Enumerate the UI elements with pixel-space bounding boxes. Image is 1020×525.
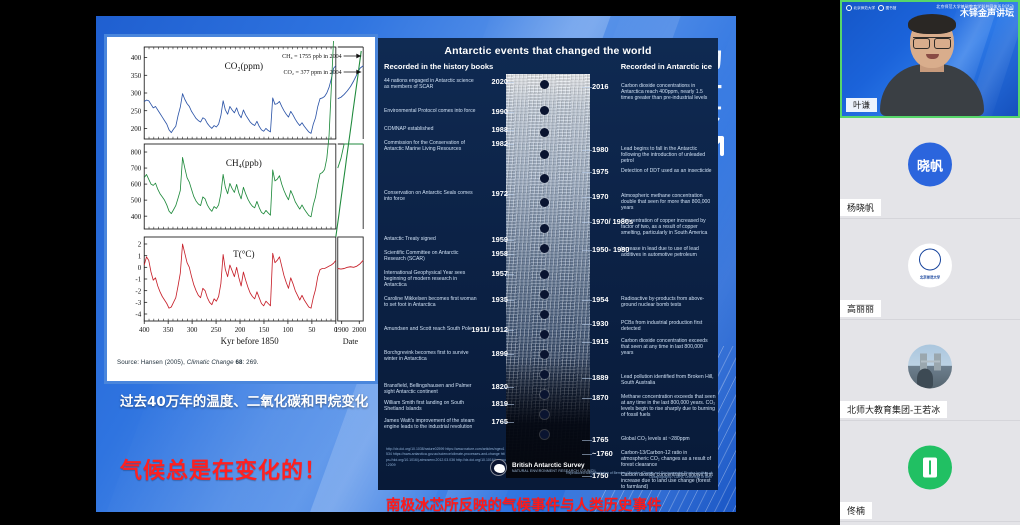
svg-text:300: 300 — [187, 326, 198, 334]
poster-leader-line — [582, 378, 592, 379]
poster-event-year: 1911/ 1912 — [471, 326, 508, 335]
poster-event-right: 1915Carbon dioxide concentration exceeds… — [592, 338, 716, 356]
poster-event-year: 1870 — [592, 394, 608, 403]
poster-event-text: Increase in lead due to use of lead addi… — [621, 246, 716, 258]
library-logo-chip: 图书馆 — [878, 5, 896, 11]
active-speaker-video-tile[interactable]: 北京师范大学 图书馆 北京师范大学基础教育学科共同体系列活动 木铎金声讲坛 — [840, 0, 1020, 118]
ice-core-marker-dot — [540, 128, 549, 137]
participants-rail: 北京师范大学 图书馆 北京师范大学基础教育学科共同体系列活动 木铎金声讲坛 — [840, 0, 1020, 525]
poster-event-left: 1957International Geophysical Year sees … — [384, 270, 504, 288]
poster-event-text: Detection of DDT used as an insecticide — [621, 168, 716, 174]
poster-event-right: 1980Lead begins to fall in the Antarctic… — [592, 146, 716, 164]
poster-event-left: 1935Caroline Mikkelsen becomes first wom… — [384, 296, 504, 308]
poster-event-year: 1980 — [592, 146, 608, 155]
svg-text:200: 200 — [131, 125, 142, 133]
poster-event-year: 1889 — [592, 374, 608, 383]
avatar — [908, 445, 952, 489]
poster-leader-line — [504, 354, 514, 355]
poster-leader-line — [504, 330, 514, 331]
poster-event-text: Scientific Committee on Antarctic Resear… — [384, 250, 480, 262]
poster-leader-line — [504, 274, 514, 275]
svg-text:-1: -1 — [135, 276, 141, 284]
antarctica-icon — [490, 459, 507, 476]
book-icon — [923, 457, 937, 477]
ice-core-marker-dot — [540, 290, 549, 299]
ice-core-marker-dot — [540, 174, 549, 183]
participant-name-label: 北师大教育集团-王若冰 — [840, 401, 947, 418]
svg-text:300: 300 — [131, 90, 142, 98]
poster-event-text: Lead begins to fall in the Antarctic fol… — [621, 146, 716, 164]
ice-core-marker-dot — [540, 224, 549, 233]
poster-event-left: 1899Borchgrevink becomes first to surviv… — [384, 350, 504, 362]
poster-right-column-header: Recorded in Antarctic ice — [621, 62, 712, 71]
avatar — [908, 344, 952, 388]
poster-leader-line — [582, 150, 592, 151]
poster-event-left: 1972Conservation on Antarctic Seals come… — [384, 190, 504, 202]
poster-event-left: 1819William Smith first landing on South… — [384, 400, 504, 412]
participant-name-label: 高丽丽 — [840, 300, 881, 317]
speaker-glasses — [913, 37, 951, 46]
poster-event-left: 1990Environmental Protocol comes into fo… — [384, 108, 504, 114]
bridge-span-icon — [921, 360, 940, 362]
poster-leader-line — [504, 194, 514, 195]
caption-chart: 过去40万年的温度、二氧化碳和甲烷变化 — [120, 390, 368, 410]
poster-event-right: 1970Atmospheric methane concentration do… — [592, 193, 716, 211]
seal-caption: 北京师范大学 — [908, 275, 952, 279]
poster-event-text: COMNAP established — [384, 126, 480, 132]
poster-leader-line — [582, 454, 592, 455]
svg-text:Date: Date — [343, 337, 359, 346]
shared-screen-area: 动一下 200250300350400CO₂(ppm)4005006007008… — [0, 0, 840, 525]
poster-leader-line — [582, 87, 592, 88]
bas-logo-name: British Antarctic Survey — [512, 462, 597, 469]
participant-name-label: 佟楠 — [840, 502, 872, 519]
speaker-figure — [876, 30, 988, 116]
person-silhouette-icon — [917, 368, 933, 388]
video-org-logos: 北京师范大学 图书馆 — [846, 5, 896, 11]
poster-event-text: Bransfield, Bellingshausen and Palmer si… — [384, 383, 480, 395]
svg-text:CH₄ = 1755 ppb in 2004: CH₄ = 1755 ppb in 2004 — [282, 54, 342, 60]
poster-event-text: Commission for the Conservation of Antar… — [384, 140, 480, 152]
poster-event-text: Methane concentration exceeds that seen … — [621, 394, 716, 418]
poster-event-text: Carbon dioxide concentration exceeds tha… — [621, 338, 716, 356]
ice-core-marker-dot — [540, 150, 549, 159]
svg-text:-2: -2 — [135, 287, 141, 295]
poster-event-text: James Watt's improvement of the steam en… — [384, 418, 480, 430]
svg-text:2: 2 — [138, 241, 142, 249]
poster-event-left: 1911/ 1912Amundsen and Scott reach South… — [384, 326, 504, 332]
ice-core-marker-dot — [540, 410, 549, 419]
poster-leader-line — [582, 197, 592, 198]
poster-event-text: Concentration of copper increased by fac… — [621, 218, 716, 236]
svg-text:350: 350 — [131, 72, 142, 80]
ice-core-marker-dot — [540, 430, 549, 439]
poster-leader-line — [504, 144, 514, 145]
poster-leader-line — [504, 82, 514, 83]
poster-event-text: Antarctic Treaty signed — [384, 236, 480, 242]
poster-event-left: 1959Antarctic Treaty signed — [384, 236, 504, 242]
poster-event-text: PCBs from industrial production first de… — [621, 320, 716, 332]
poster-leader-line — [504, 254, 514, 255]
bnu-logo-chip: 北京师范大学 — [846, 5, 875, 11]
poster-leader-line — [504, 130, 514, 131]
library-logo-text: 图书馆 — [886, 6, 897, 11]
poster-event-left: 1765James Watt's improvement of the stea… — [384, 418, 504, 430]
caption-icecore: 南极冰芯所反映的气候事件与人类历史事件 — [386, 494, 662, 512]
ice-core-marker-dot — [540, 244, 549, 253]
svg-text:0: 0 — [138, 264, 142, 272]
poster-event-text: Atmospheric methane concentration double… — [621, 193, 716, 211]
caption-climate: 气候总是在变化的！ — [120, 453, 327, 485]
antarctic-poster: Antarctic events that changed the world … — [378, 38, 718, 490]
poster-event-year: 2016 — [592, 83, 608, 92]
poster-leader-line — [582, 342, 592, 343]
svg-text:1: 1 — [138, 252, 142, 260]
poster-event-right: 1870Methane concentration exceeds that s… — [592, 394, 716, 418]
svg-text:350: 350 — [163, 326, 174, 334]
poster-event-text: Caroline Mikkelsen becomes first woman t… — [384, 296, 480, 308]
svg-text:CO₂(ppm): CO₂(ppm) — [225, 61, 263, 72]
poster-event-year: 1930 — [592, 320, 608, 329]
ice-core-marker-dot — [540, 390, 549, 399]
poster-event-right: 1970/ 1980sConcentration of copper incre… — [592, 218, 716, 236]
svg-text:400: 400 — [131, 213, 142, 221]
participant-name-label: 杨晓帆 — [840, 199, 881, 216]
svg-text:CH₄(ppb): CH₄(ppb) — [226, 158, 262, 169]
poster-event-text: International Geophysical Year sees begi… — [384, 270, 480, 288]
svg-text:50: 50 — [308, 326, 315, 334]
svg-text:-3: -3 — [135, 299, 141, 307]
participant-tile[interactable]: 北京师范大学高丽丽 — [840, 219, 1020, 320]
university-seal-icon — [919, 248, 941, 270]
chart-source-note: Source: Hansen (2005), Climatic Change 6… — [111, 357, 371, 366]
poster-event-text: Radioactive by-products from above-groun… — [621, 296, 716, 308]
bnu-logo-text: 北京师范大学 — [854, 6, 876, 11]
svg-text:CO₂ = 377 ppm in 2004: CO₂ = 377 ppm in 2004 — [283, 70, 341, 76]
ice-core-marker-dot — [540, 80, 549, 89]
poster-event-left: 1958Scientific Committee on Antarctic Re… — [384, 250, 504, 262]
svg-text:-4: -4 — [135, 311, 141, 319]
svg-text:800: 800 — [131, 149, 142, 157]
poster-leader-line — [582, 300, 592, 301]
svg-text:250: 250 — [131, 107, 142, 115]
ice-core-marker-dot — [540, 330, 549, 339]
poster-event-right: 1954Radioactive by-products from above-g… — [592, 296, 716, 308]
poster-event-right: 1765Global CO₂ levels at ~280ppm — [592, 436, 716, 442]
avatar: 北京师范大学 — [908, 243, 952, 287]
poster-event-text: Carbon-13/Carbon-12 ratio in atmospheric… — [621, 450, 716, 468]
poster-event-right: 1930PCBs from industrial production firs… — [592, 320, 716, 332]
poster-event-year: 1765 — [592, 436, 608, 445]
poster-event-right: 1889Lead pollution identified from Broke… — [592, 374, 716, 386]
poster-leader-line — [504, 404, 514, 405]
svg-text:400: 400 — [131, 54, 142, 62]
svg-text:1900: 1900 — [335, 326, 349, 334]
poster-event-right: 1975Detection of DDT used as an insectic… — [592, 168, 716, 174]
poster-leader-line — [504, 422, 514, 423]
ice-core-marker-dot — [540, 310, 549, 319]
poster-event-text: Lead pollution identified from Broken Hi… — [621, 374, 716, 386]
poster-leader-line — [504, 300, 514, 301]
svg-text:2000: 2000 — [352, 326, 366, 334]
poster-leader-line — [504, 240, 514, 241]
svg-text:200: 200 — [235, 326, 246, 334]
presentation-slide: 动一下 200250300350400CO₂(ppm)4005006007008… — [96, 16, 736, 512]
poster-event-text: 44 nations engaged in Antarctic science … — [384, 78, 480, 90]
ice-core-marker-dot — [540, 270, 549, 279]
poster-leader-line — [504, 112, 514, 113]
participant-tile[interactable]: 佟楠 — [840, 421, 1020, 522]
poster-event-right: 2016Carbon dioxide concentrations in Ant… — [592, 83, 716, 101]
svg-text:400: 400 — [139, 326, 150, 334]
svg-text:Kyr before 1850: Kyr before 1850 — [221, 336, 280, 346]
poster-event-text: Borchgrevink becomes first to survive wi… — [384, 350, 480, 362]
svg-text:500: 500 — [131, 197, 142, 205]
poster-event-text: William Smith first landing on South She… — [384, 400, 480, 412]
poster-event-year: ~1760 — [592, 450, 613, 459]
poster-references: http://dx.doi.org/10.1038/nature02599 ht… — [386, 447, 506, 468]
avatar: 晓帆 — [908, 142, 952, 186]
poster-title: Antarctic events that changed the world — [378, 45, 718, 57]
poster-leader-line — [504, 387, 514, 388]
participant-tiles: 晓帆杨晓帆北京师范大学高丽丽北师大教育集团-王若冰佟楠 — [840, 118, 1020, 522]
ice-core-marker-dot — [540, 106, 549, 115]
participant-tile[interactable]: 北师大教育集团-王若冰 — [840, 320, 1020, 421]
svg-text:T(°C): T(°C) — [233, 249, 255, 260]
svg-text:150: 150 — [259, 326, 270, 334]
poster-leader-line — [582, 440, 592, 441]
participant-tile[interactable]: 晓帆杨晓帆 — [840, 118, 1020, 219]
poster-event-year: 1954 — [592, 296, 608, 305]
poster-event-year: 1915 — [592, 338, 608, 347]
speaker-name-label: 叶谦 — [846, 98, 877, 112]
svg-text:250: 250 — [211, 326, 222, 334]
poster-event-text: Conservation on Antarctic Seals comes in… — [384, 190, 480, 202]
poster-credit: Reproduced with permission of Bernhard B… — [562, 471, 712, 480]
university-seal-icon — [846, 5, 852, 11]
speaker-hair — [908, 14, 956, 34]
poster-leader-line — [582, 222, 592, 223]
poster-event-left: 1820Bransfield, Bellingshausen and Palme… — [384, 383, 504, 395]
poster-event-left: 202044 nations engaged in Antarctic scie… — [384, 78, 504, 90]
poster-event-left: 1988COMNAP established — [384, 126, 504, 132]
svg-text:600: 600 — [131, 181, 142, 189]
ice-core-marker-dot — [540, 370, 549, 379]
svg-text:100: 100 — [283, 326, 294, 334]
poster-event-text: Global CO₂ levels at ~280ppm — [621, 436, 716, 442]
poster-event-right: ~1760Carbon-13/Carbon-12 ratio in atmosp… — [592, 450, 716, 468]
screen-root: 动一下 200250300350400CO₂(ppm)4005006007008… — [0, 0, 1020, 525]
ice-core-chart-card: 200250300350400CO₂(ppm)400500600700800CH… — [104, 34, 378, 384]
ice-core-marker-dot — [540, 350, 549, 359]
poster-leader-line — [582, 324, 592, 325]
poster-left-column-header: Recorded in the history books — [384, 62, 493, 71]
library-seal-icon — [878, 5, 884, 11]
poster-event-left: 1982Commission for the Conservation of A… — [384, 140, 504, 152]
poster-leader-line — [582, 250, 592, 251]
poster-leader-line — [582, 172, 592, 173]
poster-event-text: Carbon dioxide concentrations in Antarct… — [621, 83, 716, 101]
poster-event-year: 1950- 1980 — [592, 246, 629, 255]
poster-event-text: Environmental Protocol comes into force — [384, 108, 480, 114]
svg-text:700: 700 — [131, 165, 142, 173]
poster-event-year: 1970/ 1980s — [592, 218, 633, 227]
ice-core-marker-dot — [540, 198, 549, 207]
poster-event-year: 1970 — [592, 193, 608, 202]
poster-event-right: 1950- 1980Increase in lead due to use of… — [592, 246, 716, 258]
poster-leader-line — [582, 398, 592, 399]
ice-core-chart: 200250300350400CO₂(ppm)400500600700800CH… — [111, 41, 371, 357]
poster-event-year: 1975 — [592, 168, 608, 177]
poster-event-text: Amundsen and Scott reach South Pole — [384, 326, 480, 332]
